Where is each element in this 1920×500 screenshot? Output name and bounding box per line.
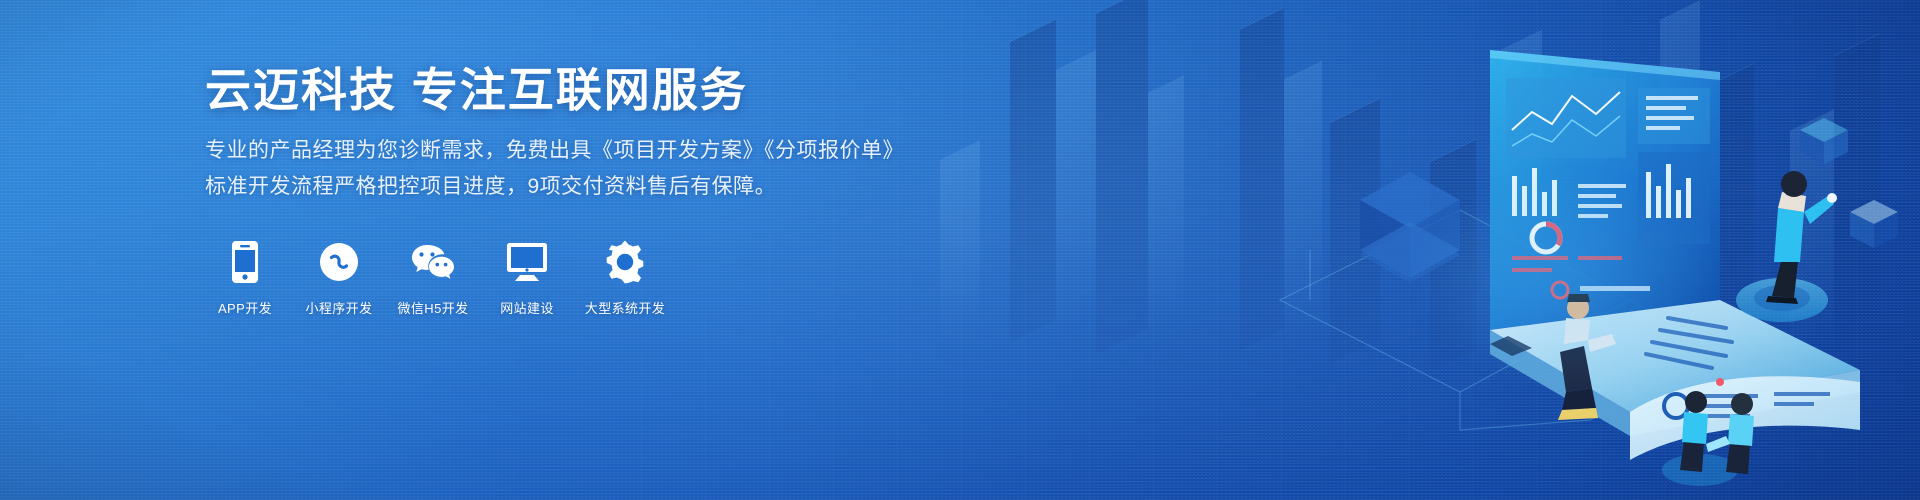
service-label-website: 网站建设 [500,298,554,317]
wechat-icon [410,240,456,284]
page-title: 云迈科技 专注互联网服务 [205,64,925,117]
service-item-mini-program[interactable]: 小程序开发 [303,240,375,317]
gear-icon [603,240,647,284]
banner-hero: 云迈科技 专注互联网服务 专业的产品经理为您诊断需求，免费出具《项目开发方案》《… [0,0,1920,500]
service-label-large-system: 大型系统开发 [585,298,665,317]
hero-content: 云迈科技 专注互联网服务 专业的产品经理为您诊断需求，免费出具《项目开发方案》《… [205,64,925,317]
accent-blocks [1800,118,1898,248]
service-label-app: APP开发 [218,298,272,317]
service-item-website[interactable]: 网站建设 [491,240,563,317]
service-label-mini-program: 小程序开发 [305,298,372,317]
service-item-wechat-h5[interactable]: 微信H5开发 [397,240,469,317]
service-item-app[interactable]: APP开发 [209,240,281,317]
service-label-wechat-h5: 微信H5开发 [397,298,468,317]
subtitle-line-1: 专业的产品经理为您诊断需求，免费出具《项目开发方案》《分项报价单》 [205,133,925,169]
service-list: APP开发 小程序开发 [205,240,925,317]
subtitle-line-2: 标准开发流程严格把控项目进度，9项交付资料售后有保障。 [205,169,925,205]
illustration-glow [1340,120,1800,440]
monitor-icon [505,240,549,284]
mobile-phone-icon [230,240,260,284]
service-item-large-system[interactable]: 大型系统开发 [589,240,661,317]
hero-illustration [1160,0,1920,500]
mini-program-icon [319,240,359,284]
